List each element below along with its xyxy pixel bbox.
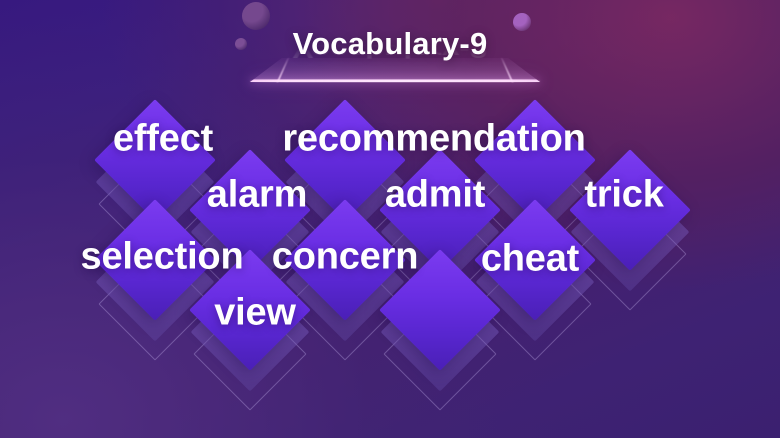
vocabulary-word[interactable]: recommendation	[282, 118, 585, 161]
vocabulary-word[interactable]: concern	[272, 236, 418, 279]
vocabulary-word[interactable]: alarm	[207, 174, 307, 217]
vocabulary-word[interactable]: trick	[584, 174, 663, 217]
vocabulary-word[interactable]: view	[214, 292, 296, 335]
vocabulary-word[interactable]: admit	[385, 174, 485, 217]
vocabulary-word[interactable]: selection	[81, 236, 244, 279]
vocabulary-word[interactable]: cheat	[481, 238, 579, 281]
vocabulary-word[interactable]: effect	[113, 118, 213, 161]
vocabulary-word-layer: effectrecommendationalarmadmittrickselec…	[0, 0, 780, 438]
vocabulary-slide: Vocabulary-9 Vocabulary-9 effectrecommen…	[0, 0, 780, 438]
